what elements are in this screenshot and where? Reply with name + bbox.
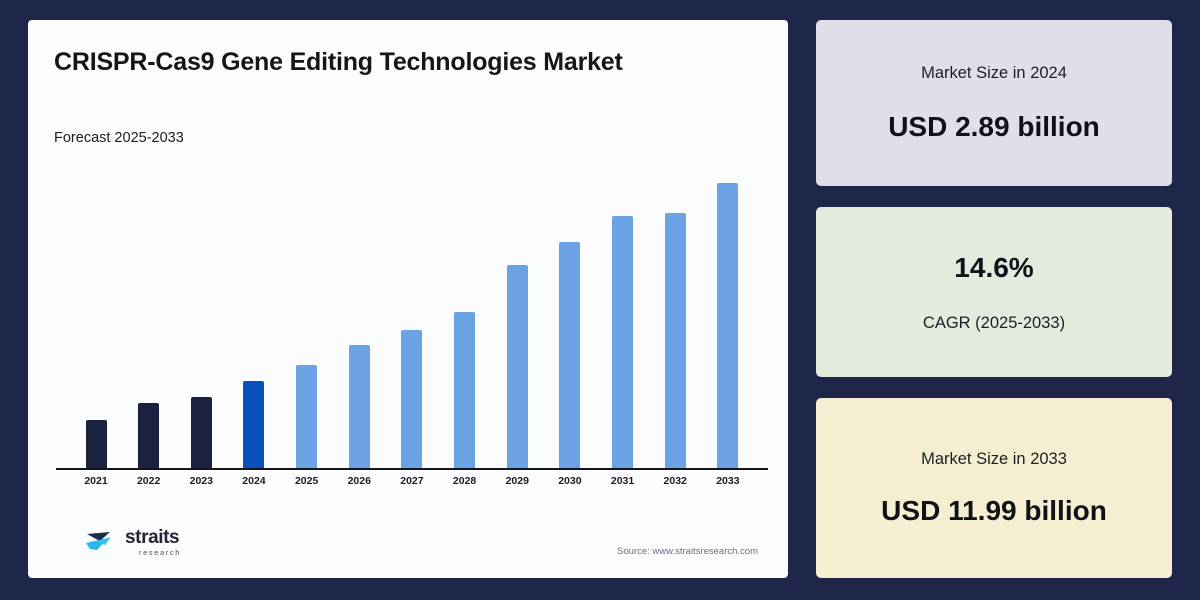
bar-2021 (86, 420, 107, 470)
bar-2030 (559, 242, 580, 470)
stat-card-label: Market Size in 2033 (921, 450, 1067, 469)
bar-slot (281, 160, 333, 470)
stat-card-label: Market Size in 2024 (921, 64, 1067, 83)
x-axis-label-2021: 2021 (70, 475, 122, 487)
x-axis-label-2025: 2025 (281, 475, 333, 487)
x-axis-label-2023: 2023 (175, 475, 227, 487)
bar-slot (649, 160, 701, 470)
bar-slot (228, 160, 280, 470)
x-axis-label-2033: 2033 (702, 475, 754, 487)
stat-card-market-size-2033: Market Size in 2033 USD 11.99 billion (816, 398, 1172, 578)
bar-2022 (138, 403, 159, 470)
bar-2029 (507, 265, 528, 470)
logo-name: straits (125, 528, 181, 547)
logo-wordmark: straits research (125, 528, 181, 557)
stat-card-value: USD 2.89 billion (888, 111, 1100, 143)
bar-2032 (665, 213, 686, 470)
x-axis-line (56, 468, 768, 470)
x-axis-label-2029: 2029 (491, 475, 543, 487)
x-axis-labels: 2021202220232024202520262027202820292030… (56, 475, 768, 487)
source-attribution: Source: www.straitsresearch.com (617, 546, 758, 557)
stat-card-cagr: 14.6% CAGR (2025-2033) (816, 207, 1172, 377)
bar-slot (175, 160, 227, 470)
bar-2026 (349, 345, 370, 470)
stat-card-market-size-2024: Market Size in 2024 USD 2.89 billion (816, 20, 1172, 186)
straits-bird-logo-icon (84, 525, 118, 559)
x-axis-label-2031: 2031 (597, 475, 649, 487)
bar-2031 (612, 216, 633, 470)
bar-2027 (401, 330, 422, 470)
x-axis-label-2027: 2027 (386, 475, 438, 487)
chart-panel: CRISPR-Cas9 Gene Editing Technologies Ma… (28, 20, 788, 578)
bar-slot (439, 160, 491, 470)
bar-slot (544, 160, 596, 470)
bar-2033 (717, 183, 738, 470)
x-axis-label-2030: 2030 (544, 475, 596, 487)
bar-slot (597, 160, 649, 470)
bar-chart (56, 140, 768, 470)
bar-series (56, 160, 768, 470)
stat-card-label: CAGR (2025-2033) (923, 314, 1065, 333)
stat-card-value: USD 11.99 billion (881, 495, 1107, 527)
x-axis-label-2024: 2024 (228, 475, 280, 487)
x-axis-label-2026: 2026 (333, 475, 385, 487)
x-axis-label-2028: 2028 (439, 475, 491, 487)
infographic-root: CRISPR-Cas9 Gene Editing Technologies Ma… (0, 0, 1200, 600)
bar-slot (491, 160, 543, 470)
x-axis-label-2022: 2022 (123, 475, 175, 487)
bar-2023 (191, 397, 212, 470)
bar-slot (386, 160, 438, 470)
bar-slot (702, 160, 754, 470)
stat-card-list: Market Size in 2024 USD 2.89 billion 14.… (816, 20, 1172, 578)
bar-2024 (243, 381, 264, 470)
page-title: CRISPR-Cas9 Gene Editing Technologies Ma… (54, 48, 623, 77)
bar-2028 (454, 312, 475, 470)
bar-slot (333, 160, 385, 470)
x-axis-label-2032: 2032 (649, 475, 701, 487)
bar-slot (70, 160, 122, 470)
bar-2025 (296, 365, 317, 470)
bar-slot (123, 160, 175, 470)
brand-logo: straits research (84, 525, 181, 559)
stat-card-value: 14.6% (954, 252, 1033, 284)
logo-tagline: research (139, 549, 181, 557)
